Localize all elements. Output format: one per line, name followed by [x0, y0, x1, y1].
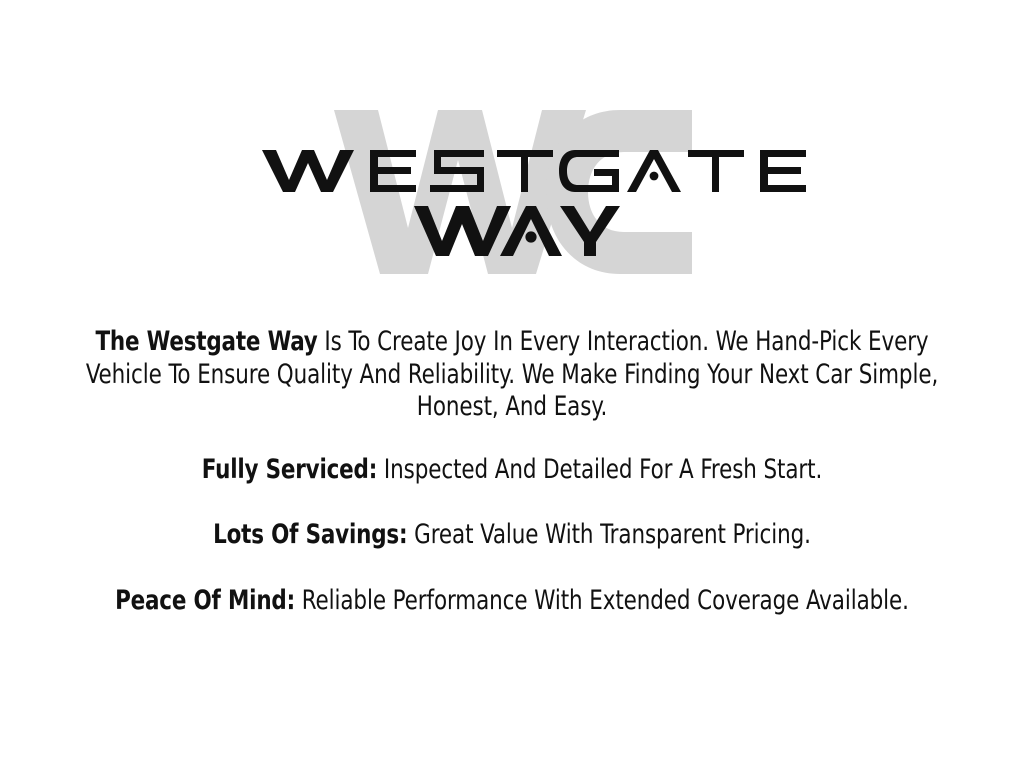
benefit-paragraph-fully-serviced: Fully Serviced: Inspected And Detailed F…	[51, 454, 973, 487]
intro-paragraph: The Westgate Way Is To Create Joy In Eve…	[51, 326, 973, 424]
marketing-slide: The Westgate Way Is To Create Joy In Eve…	[0, 0, 1024, 768]
benefit-lead-in-peace-of-mind: Peace Of Mind:	[115, 585, 295, 616]
brand-logo-lockup	[0, 100, 1024, 285]
benefit-lead-in-fully-serviced: Fully Serviced:	[202, 454, 377, 485]
benefit-paragraph-lots-of-savings: Lots Of Savings: Great Value With Transp…	[51, 519, 973, 552]
paragraph-spacer	[0, 552, 1024, 585]
body-copy: The Westgate Way Is To Create Joy In Eve…	[0, 326, 1024, 617]
benefit-text-fully-serviced: Inspected And Detailed For A Fresh Start…	[377, 454, 822, 485]
westgate-way-wordmark-icon	[0, 100, 1024, 285]
paragraph-spacer	[0, 424, 1024, 454]
benefit-text-lots-of-savings: Great Value With Transparent Pricing.	[407, 519, 810, 550]
benefit-lead-in-lots-of-savings: Lots Of Savings:	[213, 519, 407, 550]
benefit-text-peace-of-mind: Reliable Performance With Extended Cover…	[295, 585, 909, 616]
benefit-paragraph-peace-of-mind: Peace Of Mind: Reliable Performance With…	[51, 585, 973, 618]
paragraph-spacer	[0, 486, 1024, 519]
intro-lead-in: The Westgate Way	[95, 326, 317, 357]
